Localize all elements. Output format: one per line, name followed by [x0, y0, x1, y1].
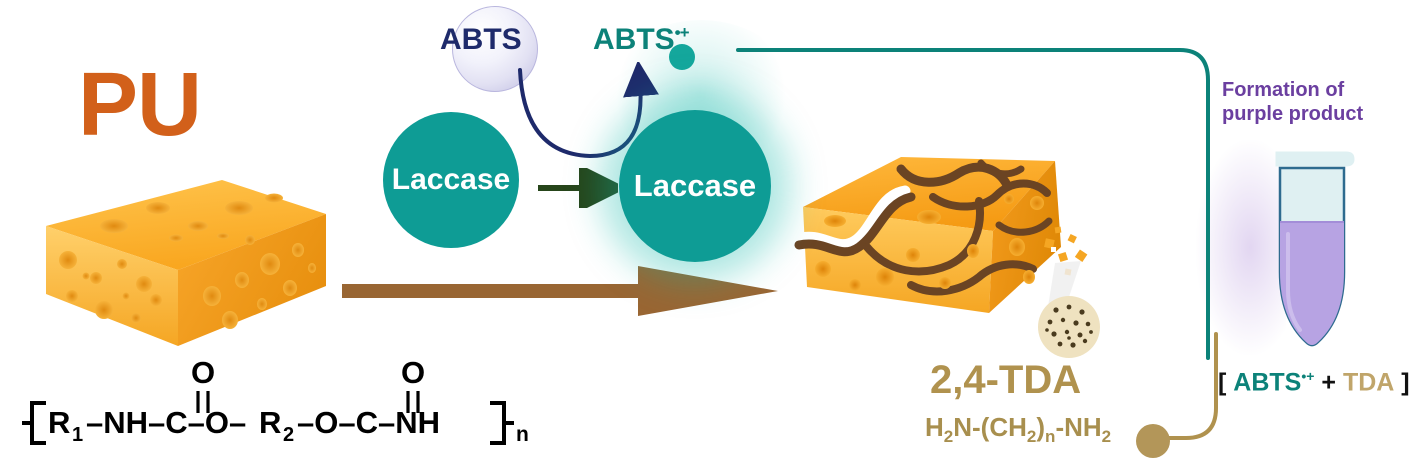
- microcentrifuge-tube: [1272, 150, 1358, 360]
- bracket-abts-label: ABTS: [1233, 368, 1301, 396]
- svg-text:–NH–C–O–: –NH–C–O–: [86, 405, 246, 440]
- degradation-reaction-arrow: [330, 258, 790, 328]
- tda-paren: ): [1036, 412, 1045, 442]
- tda-h-sub: 2: [944, 427, 953, 446]
- tda-product-label: 2,4-TDA: [930, 358, 1081, 403]
- tda-n1: N-(CH: [953, 412, 1027, 442]
- particle-magnification-inset: [1036, 294, 1102, 360]
- pu-sponge-intact: [26, 168, 346, 368]
- laccase-label-2: Laccase: [634, 168, 756, 204]
- abts-radical-superscript: •+: [675, 23, 689, 42]
- tda-h: H: [925, 412, 944, 442]
- laccase-activation-arrow: [532, 168, 618, 208]
- bracket-close: ]: [1401, 368, 1409, 396]
- bracket-tda-label: TDA: [1343, 368, 1394, 396]
- detection-bracket-expression: [ ABTS•+ + TDA ]: [1218, 368, 1410, 397]
- svg-text:R: R: [48, 405, 70, 440]
- tda-ch2-sub: 2: [1027, 427, 1036, 446]
- tda-n-sub: n: [1045, 427, 1055, 446]
- bracket-plus: +: [1321, 368, 1336, 396]
- pu-structural-formula: O O R 1 –NH–C–O– R 2 –O–C–NH n: [22, 355, 537, 459]
- laccase-circle-reduced: Laccase: [383, 112, 519, 248]
- tda-formula: H2N-(CH2)n-NH2: [925, 412, 1111, 447]
- purple-headline-line2: purple product: [1222, 102, 1412, 126]
- svg-text:1: 1: [72, 424, 83, 446]
- svg-text:2: 2: [283, 424, 294, 446]
- abts-radical-label: ABTS•+: [593, 23, 689, 57]
- degradation-scheme-figure: PU: [0, 0, 1417, 467]
- svg-text:n: n: [516, 423, 529, 446]
- tda-molecule-dot-icon: [1136, 424, 1170, 458]
- purple-headline-line1: Formation of: [1222, 78, 1412, 102]
- tda-tail: -NH: [1055, 412, 1101, 442]
- svg-text:R: R: [259, 405, 281, 440]
- abts-label: ABTS: [440, 23, 522, 57]
- abts-radical-base: ABTS: [593, 23, 675, 56]
- laccase-circle-activated: Laccase: [619, 110, 771, 262]
- pu-label: PU: [78, 60, 201, 150]
- bracket-abts-superscript: •+: [1301, 368, 1314, 384]
- tda-tail-sub: 2: [1102, 427, 1111, 446]
- svg-text:O: O: [401, 355, 425, 390]
- svg-text:O: O: [191, 355, 215, 390]
- purple-product-headline: Formation of purple product: [1222, 78, 1412, 126]
- laccase-label-1: Laccase: [392, 163, 510, 197]
